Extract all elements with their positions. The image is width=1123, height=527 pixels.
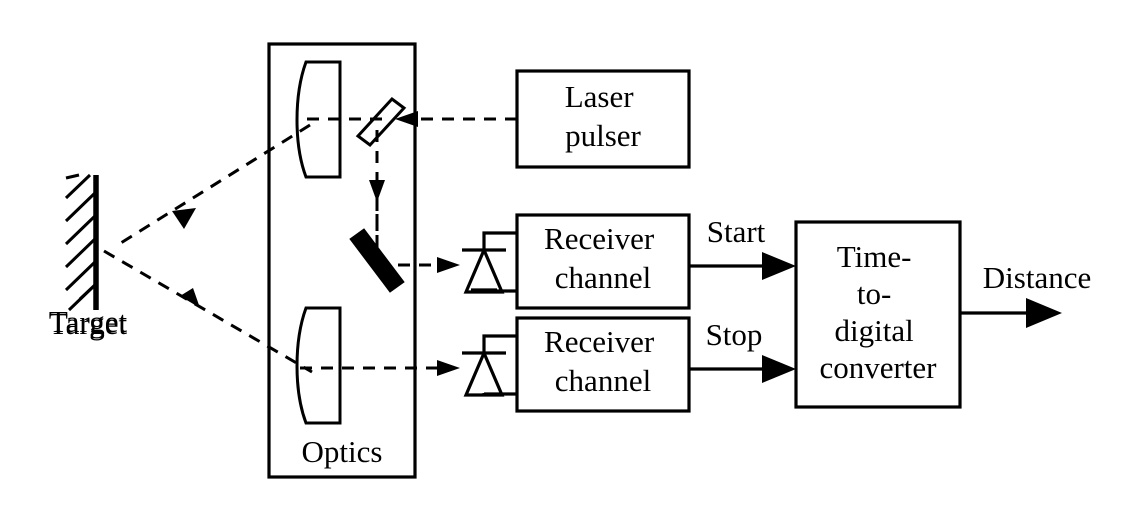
start-photodiode-bottom-lead-real: [484, 290, 517, 291]
stop-photodiode-triangle: [466, 353, 502, 395]
wire-start-arrowhead: [762, 252, 796, 280]
stop-signal-label: Stop: [706, 317, 763, 352]
tdc-line3: digital: [835, 313, 914, 348]
stop-photodiode-bottom-lead: [484, 393, 517, 394]
receiver-stop-line1: Receiver: [544, 324, 655, 359]
start-signal-text: Start: [707, 214, 766, 249]
wire-distance-arrowhead: [1026, 298, 1062, 328]
target-text: Target: [49, 306, 128, 341]
distance-output-label: Distance: [983, 260, 1091, 295]
tdc-line2: to-: [857, 276, 891, 311]
distance-output-text: Distance: [983, 260, 1091, 295]
wire-stop-arrowhead: [762, 355, 796, 383]
beam-target-arrowhead-upper: [172, 208, 196, 229]
receiver-start-line2: channel: [555, 260, 651, 295]
target-wall: [66, 175, 96, 310]
target-text-label: Target: [49, 306, 128, 341]
start-signal-label: Start: [707, 214, 766, 249]
tdc-line4: converter: [819, 350, 937, 385]
laser-pulser-line2: pulser: [565, 118, 641, 153]
laser-pulser-line1: Laser: [565, 79, 635, 114]
rangefinder-diagram: Target Optics: [0, 0, 1123, 527]
start-photodiode-triangle: [466, 250, 502, 292]
tdc-line1: Time-: [837, 239, 912, 274]
stop-photodiode: [462, 336, 517, 395]
optics-label: Optics: [302, 434, 383, 469]
receiver-stop-line2: channel: [555, 363, 651, 398]
receiver-start-line1: Receiver: [544, 221, 655, 256]
start-photodiode: [462, 233, 517, 292]
stop-photodiode-top-lead: [484, 336, 517, 353]
beam-start-diode-arrowhead: [437, 257, 460, 273]
diagram-canvas: Target Optics: [0, 0, 1123, 527]
stop-signal-text: Stop: [706, 317, 763, 352]
lower-lens-icon: [297, 308, 340, 423]
beam-stop-diode-arrowhead: [437, 360, 460, 376]
optics-label-text: Optics: [302, 434, 383, 469]
start-photodiode-top-lead: [484, 233, 517, 250]
